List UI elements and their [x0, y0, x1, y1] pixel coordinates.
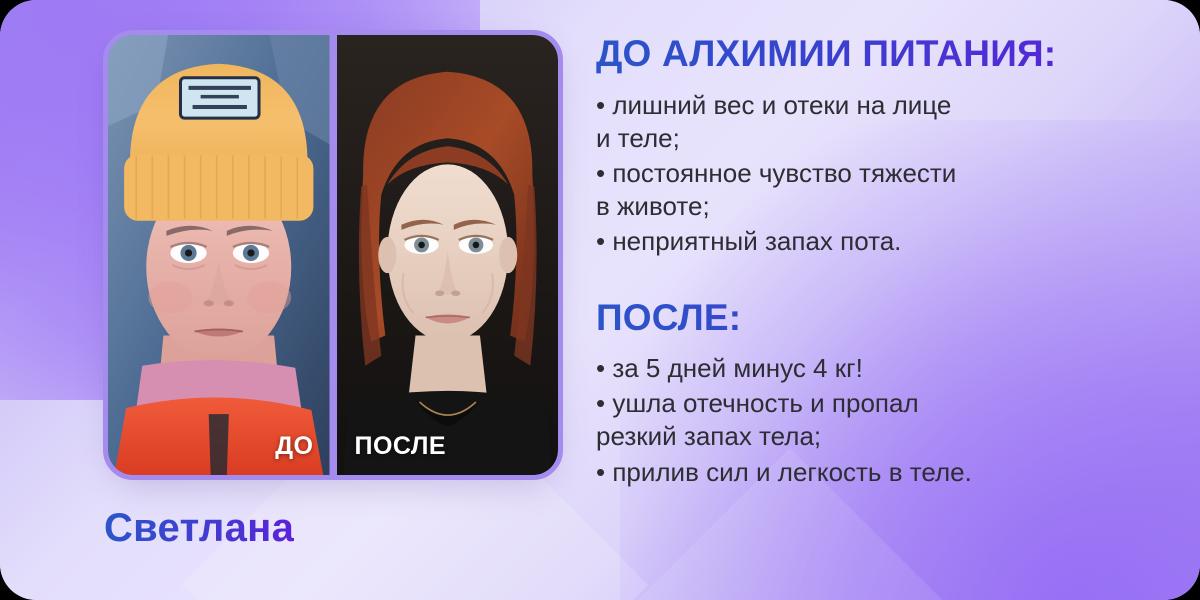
section-before-heading: ДО АЛХИМИИ ПИТАНИЯ:	[596, 34, 1116, 75]
photo-before-tag: ДО	[275, 432, 313, 461]
photo-card-frame: ДО	[103, 30, 563, 480]
photo-before-image	[108, 35, 330, 475]
list-item: • лишний вес и отеки на лице и теле;	[596, 89, 1116, 155]
list-item: • постоянное чувство тяжести в животе;	[596, 157, 1116, 223]
section-before: ДО АЛХИМИИ ПИТАНИЯ: • лишний вес и отеки…	[596, 34, 1116, 258]
list-item: • за 5 дней минус 4 кг!	[596, 352, 1116, 385]
person-name: Светлана	[104, 506, 294, 551]
list-item: • ушла отечность и пропал резкий запах т…	[596, 387, 1116, 453]
photo-after-tag: ПОСЛЕ	[355, 432, 447, 461]
photo-before: ДО	[108, 35, 330, 475]
list-item: • прилив сил и легкость в теле.	[596, 456, 1116, 489]
section-after: ПОСЛЕ: • за 5 дней минус 4 кг! • ушла от…	[596, 298, 1116, 489]
section-after-heading: ПОСЛЕ:	[596, 298, 1116, 339]
photo-after: ПОСЛЕ	[337, 35, 559, 475]
list-item: • неприятный запах пота.	[596, 225, 1116, 258]
section-after-bullet-list: • за 5 дней минус 4 кг! • ушла отечность…	[596, 352, 1116, 488]
before-after-photo-block: ДО	[103, 30, 563, 480]
photo-after-image	[337, 35, 559, 475]
section-before-bullet-list: • лишний вес и отеки на лице и теле; • п…	[596, 89, 1116, 258]
testimonial-text-column: ДО АЛХИМИИ ПИТАНИЯ: • лишний вес и отеки…	[596, 34, 1116, 491]
testimonial-card: ДО	[0, 0, 1200, 600]
